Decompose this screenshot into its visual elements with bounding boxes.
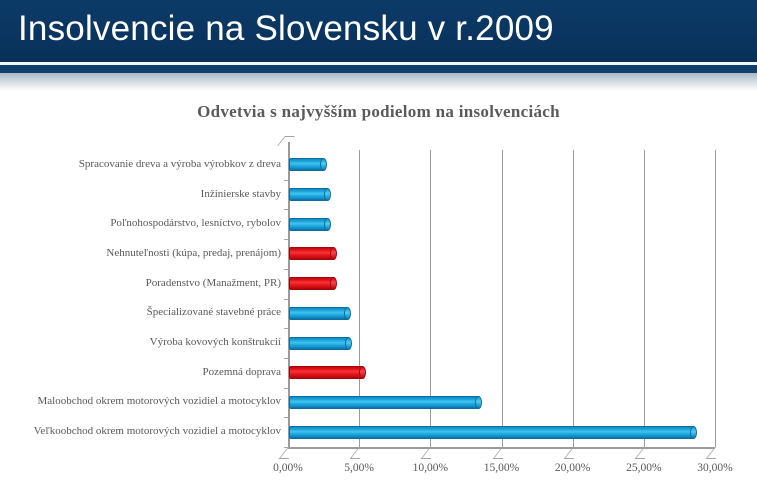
y-tick-label: Špecializované stavebné práce [0,306,281,318]
bar[interactable] [289,247,335,260]
y-axis-tick [284,239,288,240]
page-title: Insolvencie na Slovensku v r.2009 [18,7,554,51]
y-axis-top-cap [277,136,295,146]
bar[interactable] [289,337,350,350]
bar[interactable] [289,188,329,201]
gridline [502,150,503,447]
y-axis-tick [284,388,288,389]
y-tick-label: Poradenstvo (Manažment, PR) [0,277,281,289]
y-axis-tick [284,447,288,448]
x-tick-label: 0,00% [273,462,303,474]
x-tick-label: 15,00% [484,462,519,474]
y-axis-tick [284,417,288,418]
gridline [573,150,574,447]
y-tick-label: Maloobchod okrem motorových vozidiel a m… [0,395,281,407]
x-tick-label: 20,00% [555,462,590,474]
x-tick-label: 25,00% [626,462,661,474]
y-tick-label: Výroba kovových konštrukcií [0,336,281,348]
gridline [715,150,716,447]
y-axis-tick [284,180,288,181]
banner-divider-navy [0,65,757,73]
x-axis-tick-labels: 0,00%5,00%10,00%15,00%20,00%25,00%30,00% [0,462,757,482]
bar[interactable] [289,396,480,409]
y-tick-label: Spracovanie dreva a výroba výrobkov z dr… [0,158,281,170]
bar[interactable] [289,218,329,231]
y-axis-tick [284,269,288,270]
y-tick-label: Nehnuteľnosti (kúpa, predaj, prenájom) [0,247,281,259]
y-axis-tick [284,299,288,300]
axis-depth-tick [279,447,298,459]
chart-container: Odvetvia s najvyšším podielom na insolve… [0,91,757,502]
y-tick-label: Veľkoobchod okrem motorových vozidiel a … [0,425,281,437]
y-axis-tick [284,209,288,210]
bar[interactable] [289,366,364,379]
title-banner: Insolvencie na Slovensku v r.2009 [0,0,757,62]
bar[interactable] [289,307,349,320]
y-tick-label: Inžinierske stavby [0,188,281,200]
y-tick-label: Pozemná doprava [0,366,281,378]
gridline [644,150,645,447]
x-tick-label: 30,00% [697,462,732,474]
x-tick-label: 10,00% [413,462,448,474]
bar[interactable] [289,277,335,290]
plot-area [288,150,715,447]
banner-gradient-fade [0,73,757,91]
y-axis-tick [284,358,288,359]
chart-title: Odvetvia s najvyšším podielom na insolve… [0,102,757,122]
y-axis-tick [284,328,288,329]
bar[interactable] [289,158,325,171]
y-tick-label: Poľnohospodárstvo, lesníctvo, rybolov [0,217,281,229]
bar[interactable] [289,426,695,439]
x-tick-label: 5,00% [344,462,374,474]
y-axis-category-labels: Spracovanie dreva a výroba výrobkov z dr… [0,150,281,447]
